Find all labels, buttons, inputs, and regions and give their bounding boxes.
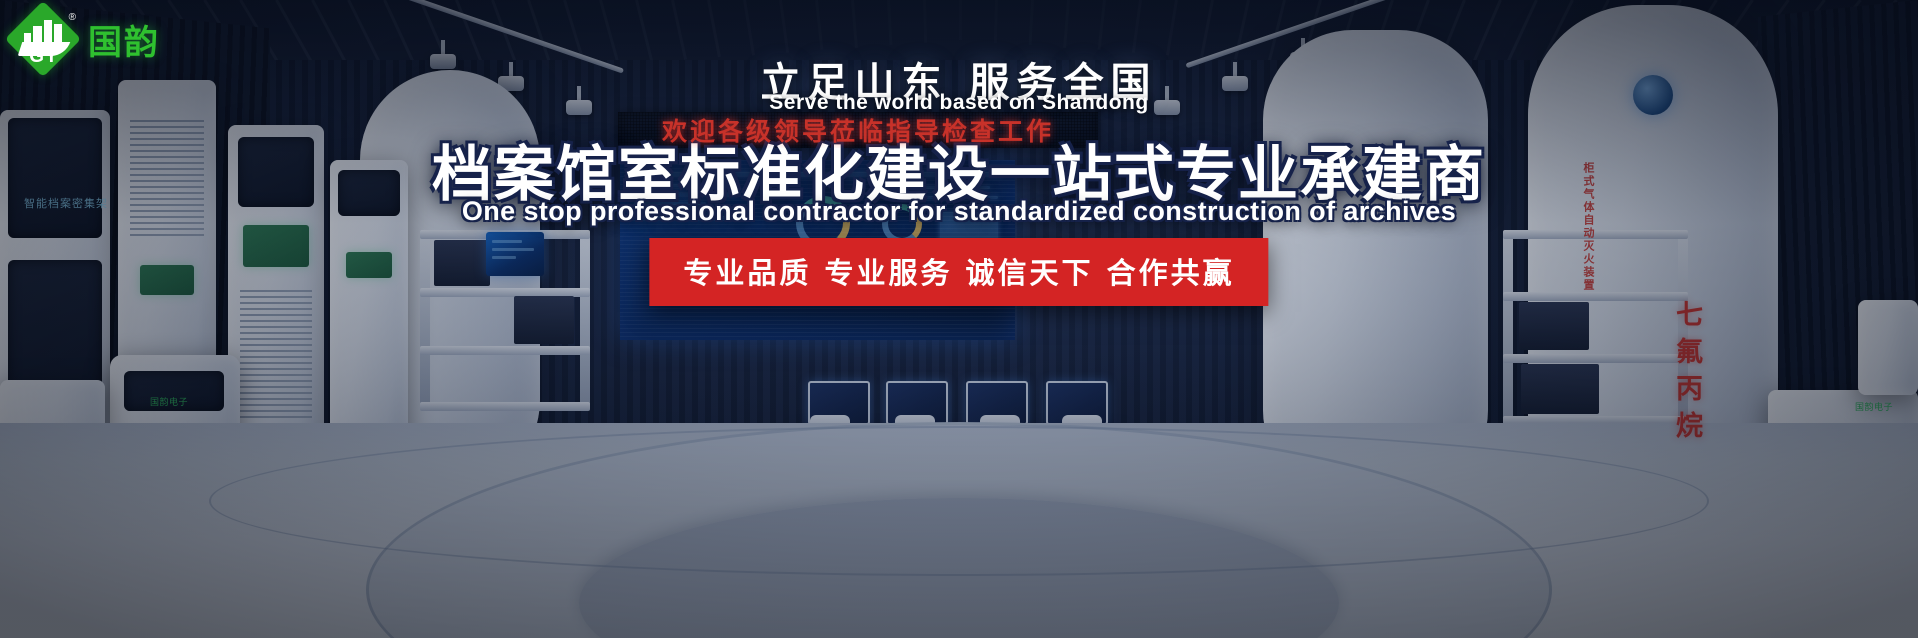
registered-mark: ® — [69, 12, 76, 23]
slogan-banner-text: 专业品质 专业服务 诚信天下 合作共赢 — [683, 256, 1234, 290]
led-marquee-text: 欢迎各级领导莅临指导检查工作 — [662, 112, 1054, 148]
hero-text-overlay: GY ® 国韵 立足山东 服务全国 Serve the world based … — [0, 0, 1918, 638]
led-marquee-board: 欢迎各级领导莅临指导检查工作 — [618, 112, 1098, 148]
slogan-banner: 专业品质 专业服务 诚信天下 合作共赢 — [649, 238, 1268, 306]
hero-banner: 欢迎各级领导莅临指导检查工作 智能档案密集架 国韵电子 国韵电子 柜式气体自动灭… — [0, 0, 1918, 638]
hero-subheadline-english: One stop professional contractor for sta… — [0, 196, 1918, 227]
